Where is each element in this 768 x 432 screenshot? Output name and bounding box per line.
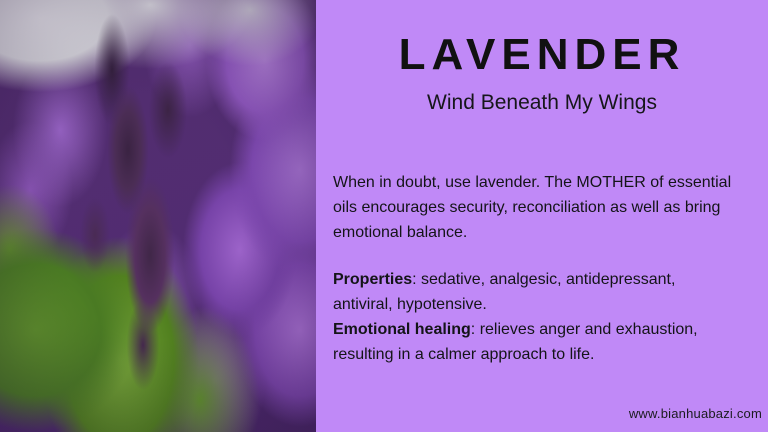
properties-label: Properties (333, 271, 412, 288)
emotional-healing-label: Emotional healing (333, 321, 471, 338)
lavender-info-card: LAVENDER Wind Beneath My Wings When in d… (0, 0, 768, 432)
properties-paragraph: Properties: sedative, analgesic, antidep… (333, 267, 733, 367)
content-panel: LAVENDER Wind Beneath My Wings When in d… (316, 0, 768, 432)
page-subtitle: Wind Beneath My Wings (316, 90, 768, 115)
intro-paragraph: When in doubt, use lavender. The MOTHER … (333, 170, 733, 245)
photo-vignette (0, 0, 316, 432)
lavender-photo (0, 0, 316, 432)
website-footer[interactable]: www.bianhuabazi.com (629, 406, 762, 421)
page-title: LAVENDER (316, 33, 768, 77)
body-text: When in doubt, use lavender. The MOTHER … (333, 170, 733, 367)
